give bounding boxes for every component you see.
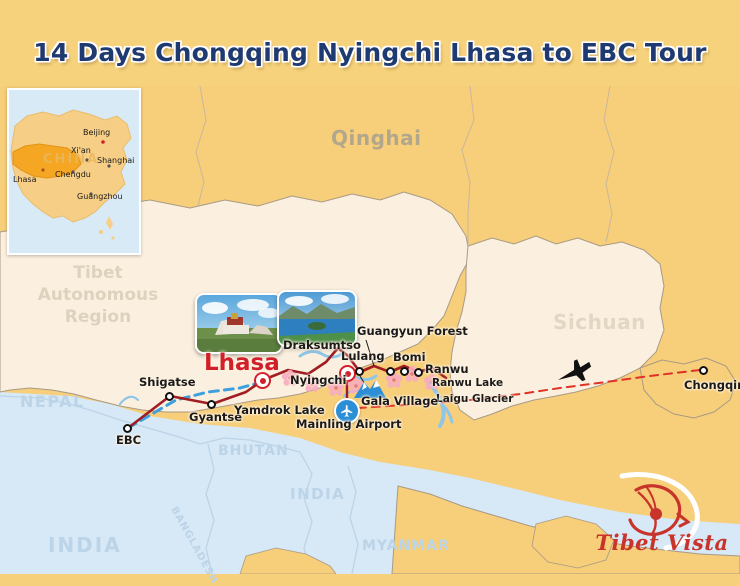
page-title: 14 Days Chongqing Nyingchi Lhasa to EBC … [0,38,740,67]
marker-shigatse[interactable] [165,392,174,401]
marker-bomi[interactable] [386,367,395,376]
place-label-laigu-glacier: Laigu Glacier [436,393,513,405]
potala-palace-photo[interactable] [195,293,283,354]
place-label-ebc: EBC [116,433,141,447]
inset-city-beijing: Beijing [83,128,110,137]
marker-lulang[interactable] [355,367,364,376]
inset-city-guangzhou: Guangzhou [77,192,123,201]
marker-bomi-east[interactable] [400,367,409,376]
place-label-bomi: Bomi [393,350,426,364]
place-label-mainling-airport: Mainling Airport [296,417,401,431]
china-locator-inset: CHINA Beijing Xi'an Shanghai Chengdu Lha… [7,88,141,255]
marker-gyantse[interactable] [207,400,216,409]
place-label-lhasa: Lhasa [204,350,280,376]
logo-text: Tibet Vista [592,530,732,555]
place-label-nyingchi: Nyingchi [290,373,346,387]
marker-ebc[interactable] [123,424,132,433]
place-label-yamdrok-lake: Yamdrok Lake [234,403,325,417]
place-label-lulang: Lulang [341,349,385,363]
tibet-vista-logo[interactable]: Tibet Vista [592,468,732,566]
inset-city-lhasa: Lhasa [13,175,37,184]
place-label-guangyun-forest: Guangyun Forest [357,324,468,338]
place-label-shigatse: Shigatse [139,375,196,389]
place-label-ranwu: Ranwu [425,362,469,376]
marker-ranwu[interactable] [414,368,423,377]
inset-city-shanghai: Shanghai [97,156,134,165]
place-label-ranwu-lake: Ranwu Lake [432,377,503,389]
place-label-chongqing: Chongqing [684,378,740,392]
inset-city-xian: Xi'an [71,146,91,155]
inset-city-chengdu: Chengdu [55,170,91,179]
marker-chongqing[interactable] [699,366,708,375]
tour-route-map: CHINA Beijing Xi'an Shanghai Chengdu Lha… [0,0,740,574]
place-label-gala-village: Gala Village [361,394,438,408]
airplane-silhouette [552,355,596,390]
